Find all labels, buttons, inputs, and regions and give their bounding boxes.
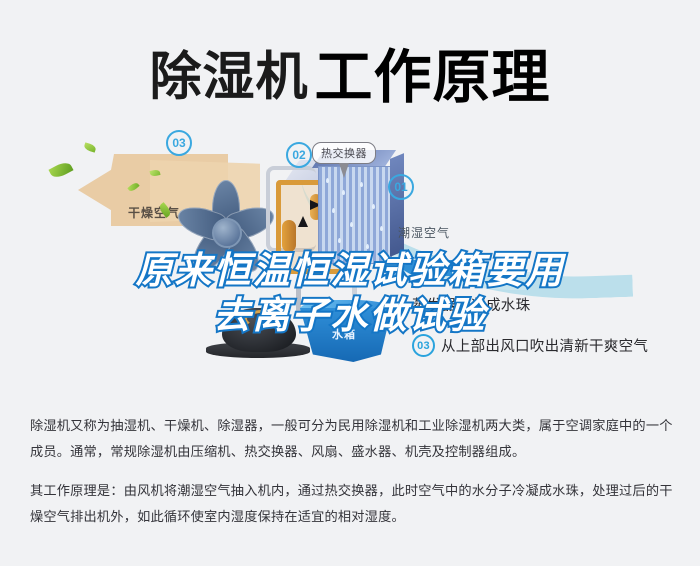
water-tank-label: 水箱 [332, 326, 356, 342]
humid-air-label: 潮湿空气 [398, 224, 450, 241]
leaf-icon [48, 160, 73, 181]
flow-arrow-up-icon [298, 216, 308, 227]
heat-exchanger-callout: 热交换器 [312, 142, 376, 164]
step-03-text: 从上部出风口吹出清新干爽空气 [441, 335, 648, 356]
page-title-part1: 除湿机 [149, 48, 308, 108]
page-title-part2: 工作原理 [315, 43, 551, 111]
fan-icon [168, 174, 280, 278]
badge-03: 03 [166, 130, 192, 156]
step-02-text: 蒸发器冷凝成水珠 [412, 294, 530, 315]
article-body: 除湿机又称为抽湿机、干燥机、除湿器，一般可分为民用除湿机和工业除湿机两大类，属于… [30, 414, 674, 531]
page-title: 除湿机工作原理 [0, 30, 700, 114]
body-paragraph-1: 除湿机又称为抽湿机、干燥机、除湿器，一般可分为民用除湿机和工业除湿机两大类，属于… [30, 414, 674, 465]
step-03-row: 03 从上部出风口吹出清新干爽空气 [412, 334, 648, 357]
badge-01: 01 [388, 174, 414, 200]
badge-03-inline: 03 [412, 334, 435, 357]
dehumidifier-diagram: 干燥空气 03 [0, 112, 700, 402]
badge-02: 02 [286, 142, 312, 168]
compressor-band-icon [244, 310, 280, 328]
body-paragraph-2: 其工作原理是：由风机将潮湿空气抽入机内，通过热交换器，此时空气中的水分子冷凝成水… [30, 479, 674, 530]
leaf-icon [83, 142, 97, 152]
page-root: 除湿机工作原理 干燥空气 03 [0, 0, 700, 566]
